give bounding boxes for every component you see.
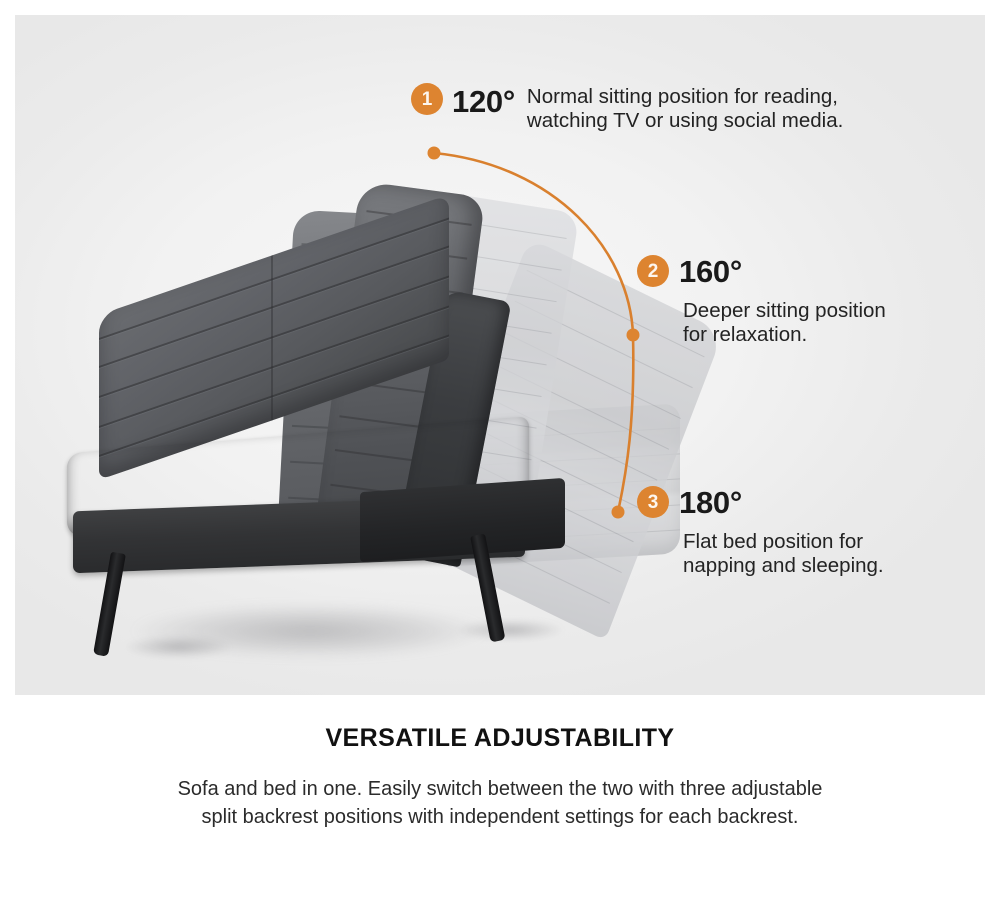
callout-160: 2 160° Deeper sitting position for relax…: [637, 255, 886, 347]
callout-description-1: Normal sitting position for reading, wat…: [527, 85, 843, 133]
callout-120: 1 120° Normal sitting position for readi…: [411, 83, 843, 133]
callout-180: 3 180° Flat bed position for napping and…: [637, 486, 884, 578]
callout-badge-3: 3: [637, 486, 669, 518]
sofa-frame-base-rear: [360, 478, 565, 562]
callout-angle-3: 180°: [679, 487, 742, 518]
section-heading: VERSATILE ADJUSTABILITY: [0, 724, 1000, 753]
callout-angle-1: 120°: [452, 86, 515, 117]
leg-shadow-left: [103, 631, 253, 663]
callout-description-2: Deeper sitting position for relaxation.: [683, 299, 886, 347]
callout-badge-1: 1: [411, 83, 443, 115]
bottom-text-block: VERSATILE ADJUSTABILITY Sofa and bed in …: [0, 700, 1000, 832]
callout-description-3: Flat bed position for napping and sleepi…: [683, 530, 884, 578]
section-body-text: Sofa and bed in one. Easily switch betwe…: [0, 775, 1000, 832]
callout-angle-2: 160°: [679, 256, 742, 287]
callout-badge-2: 2: [637, 255, 669, 287]
